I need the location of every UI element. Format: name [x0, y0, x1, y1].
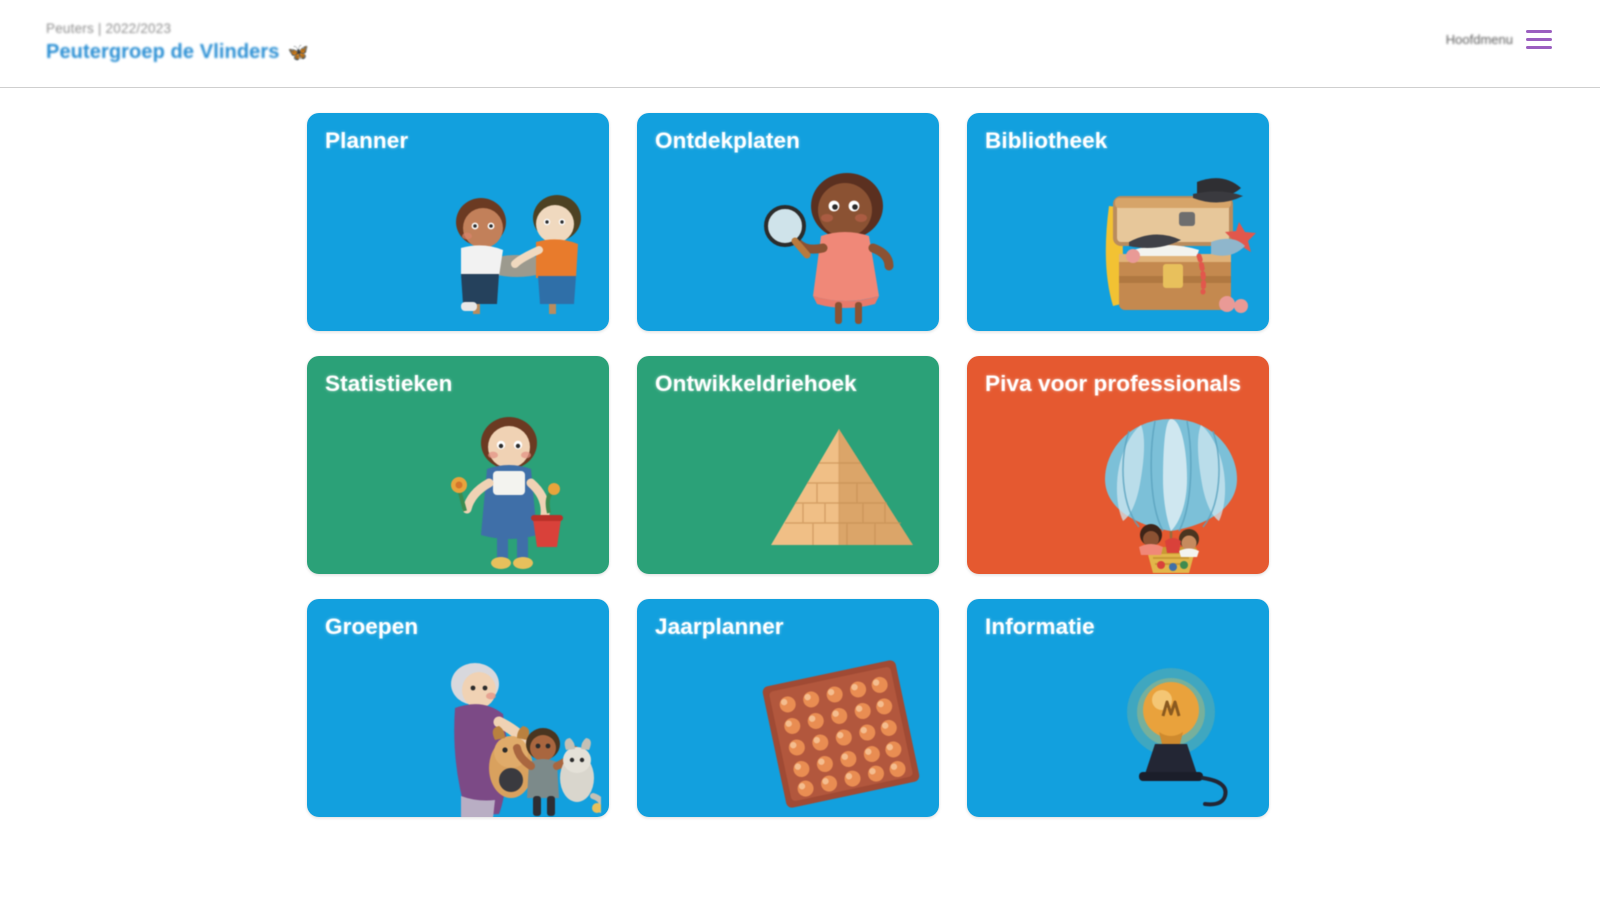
page-header: Peuters | 2022/2023 Peutergroep de Vlind…: [0, 0, 1600, 88]
tile-informatie[interactable]: Informatie: [967, 599, 1269, 817]
tile-title: Ontdekplaten: [655, 127, 923, 155]
girl-with-magnifying-glass-icon: [751, 164, 931, 329]
tile-title: Planner: [325, 127, 593, 155]
tile-title: Statistieken: [325, 370, 593, 398]
main-menu-label: Hoofdmenu: [1446, 32, 1513, 47]
tile-title: Piva voor professionals: [985, 370, 1253, 398]
tile-title: Informatie: [985, 613, 1253, 641]
header-identity: Peuters | 2022/2023 Peutergroep de Vlind…: [46, 20, 309, 64]
treasure-chest-icon: [1081, 164, 1261, 329]
calendar-grid-icon: [751, 650, 931, 815]
tile-statistieken[interactable]: Statistieken: [307, 356, 609, 574]
hamburger-bar-1: [1526, 30, 1552, 33]
tile-piva-voor-professionals[interactable]: Piva voor professionals: [967, 356, 1269, 574]
woman-with-children-icon: [421, 656, 601, 817]
tile-groepen[interactable]: Groepen: [307, 599, 609, 817]
tile-ontwikkeldriehoek[interactable]: Ontwikkeldriehoek: [637, 356, 939, 574]
tile-title: Ontwikkeldriehoek: [655, 370, 923, 398]
tile-grid: Planner: [307, 113, 1297, 817]
hamburger-menu-icon[interactable]: [1526, 30, 1552, 49]
tile-bibliotheek[interactable]: Bibliotheek: [967, 113, 1269, 331]
hamburger-bar-2: [1526, 38, 1552, 41]
group-title-link[interactable]: Peutergroep de Vlinders 🦋: [46, 41, 309, 64]
tile-ontdekplaten[interactable]: Ontdekplaten: [637, 113, 939, 331]
two-children-at-table-icon: [421, 170, 601, 331]
child-watering-plants-icon: [421, 413, 601, 574]
main-menu-trigger[interactable]: Hoofdmenu: [1446, 30, 1552, 49]
dashboard-body: Planner: [0, 88, 1600, 817]
tile-title: Groepen: [325, 613, 593, 641]
tile-jaarplanner[interactable]: Jaarplanner: [637, 599, 939, 817]
tile-title: Jaarplanner: [655, 613, 923, 641]
breadcrumb: Peuters | 2022/2023: [46, 20, 309, 38]
hamburger-bar-3: [1526, 46, 1552, 49]
light-bulb-icon: [1081, 650, 1261, 815]
butterfly-icon: 🦋: [287, 44, 308, 61]
group-name-label: Peutergroep de Vlinders: [46, 41, 279, 64]
pyramid-icon: [751, 407, 931, 572]
tile-planner[interactable]: Planner: [307, 113, 609, 331]
tile-title: Bibliotheek: [985, 127, 1253, 155]
hot-air-balloon-icon: [1081, 413, 1261, 574]
